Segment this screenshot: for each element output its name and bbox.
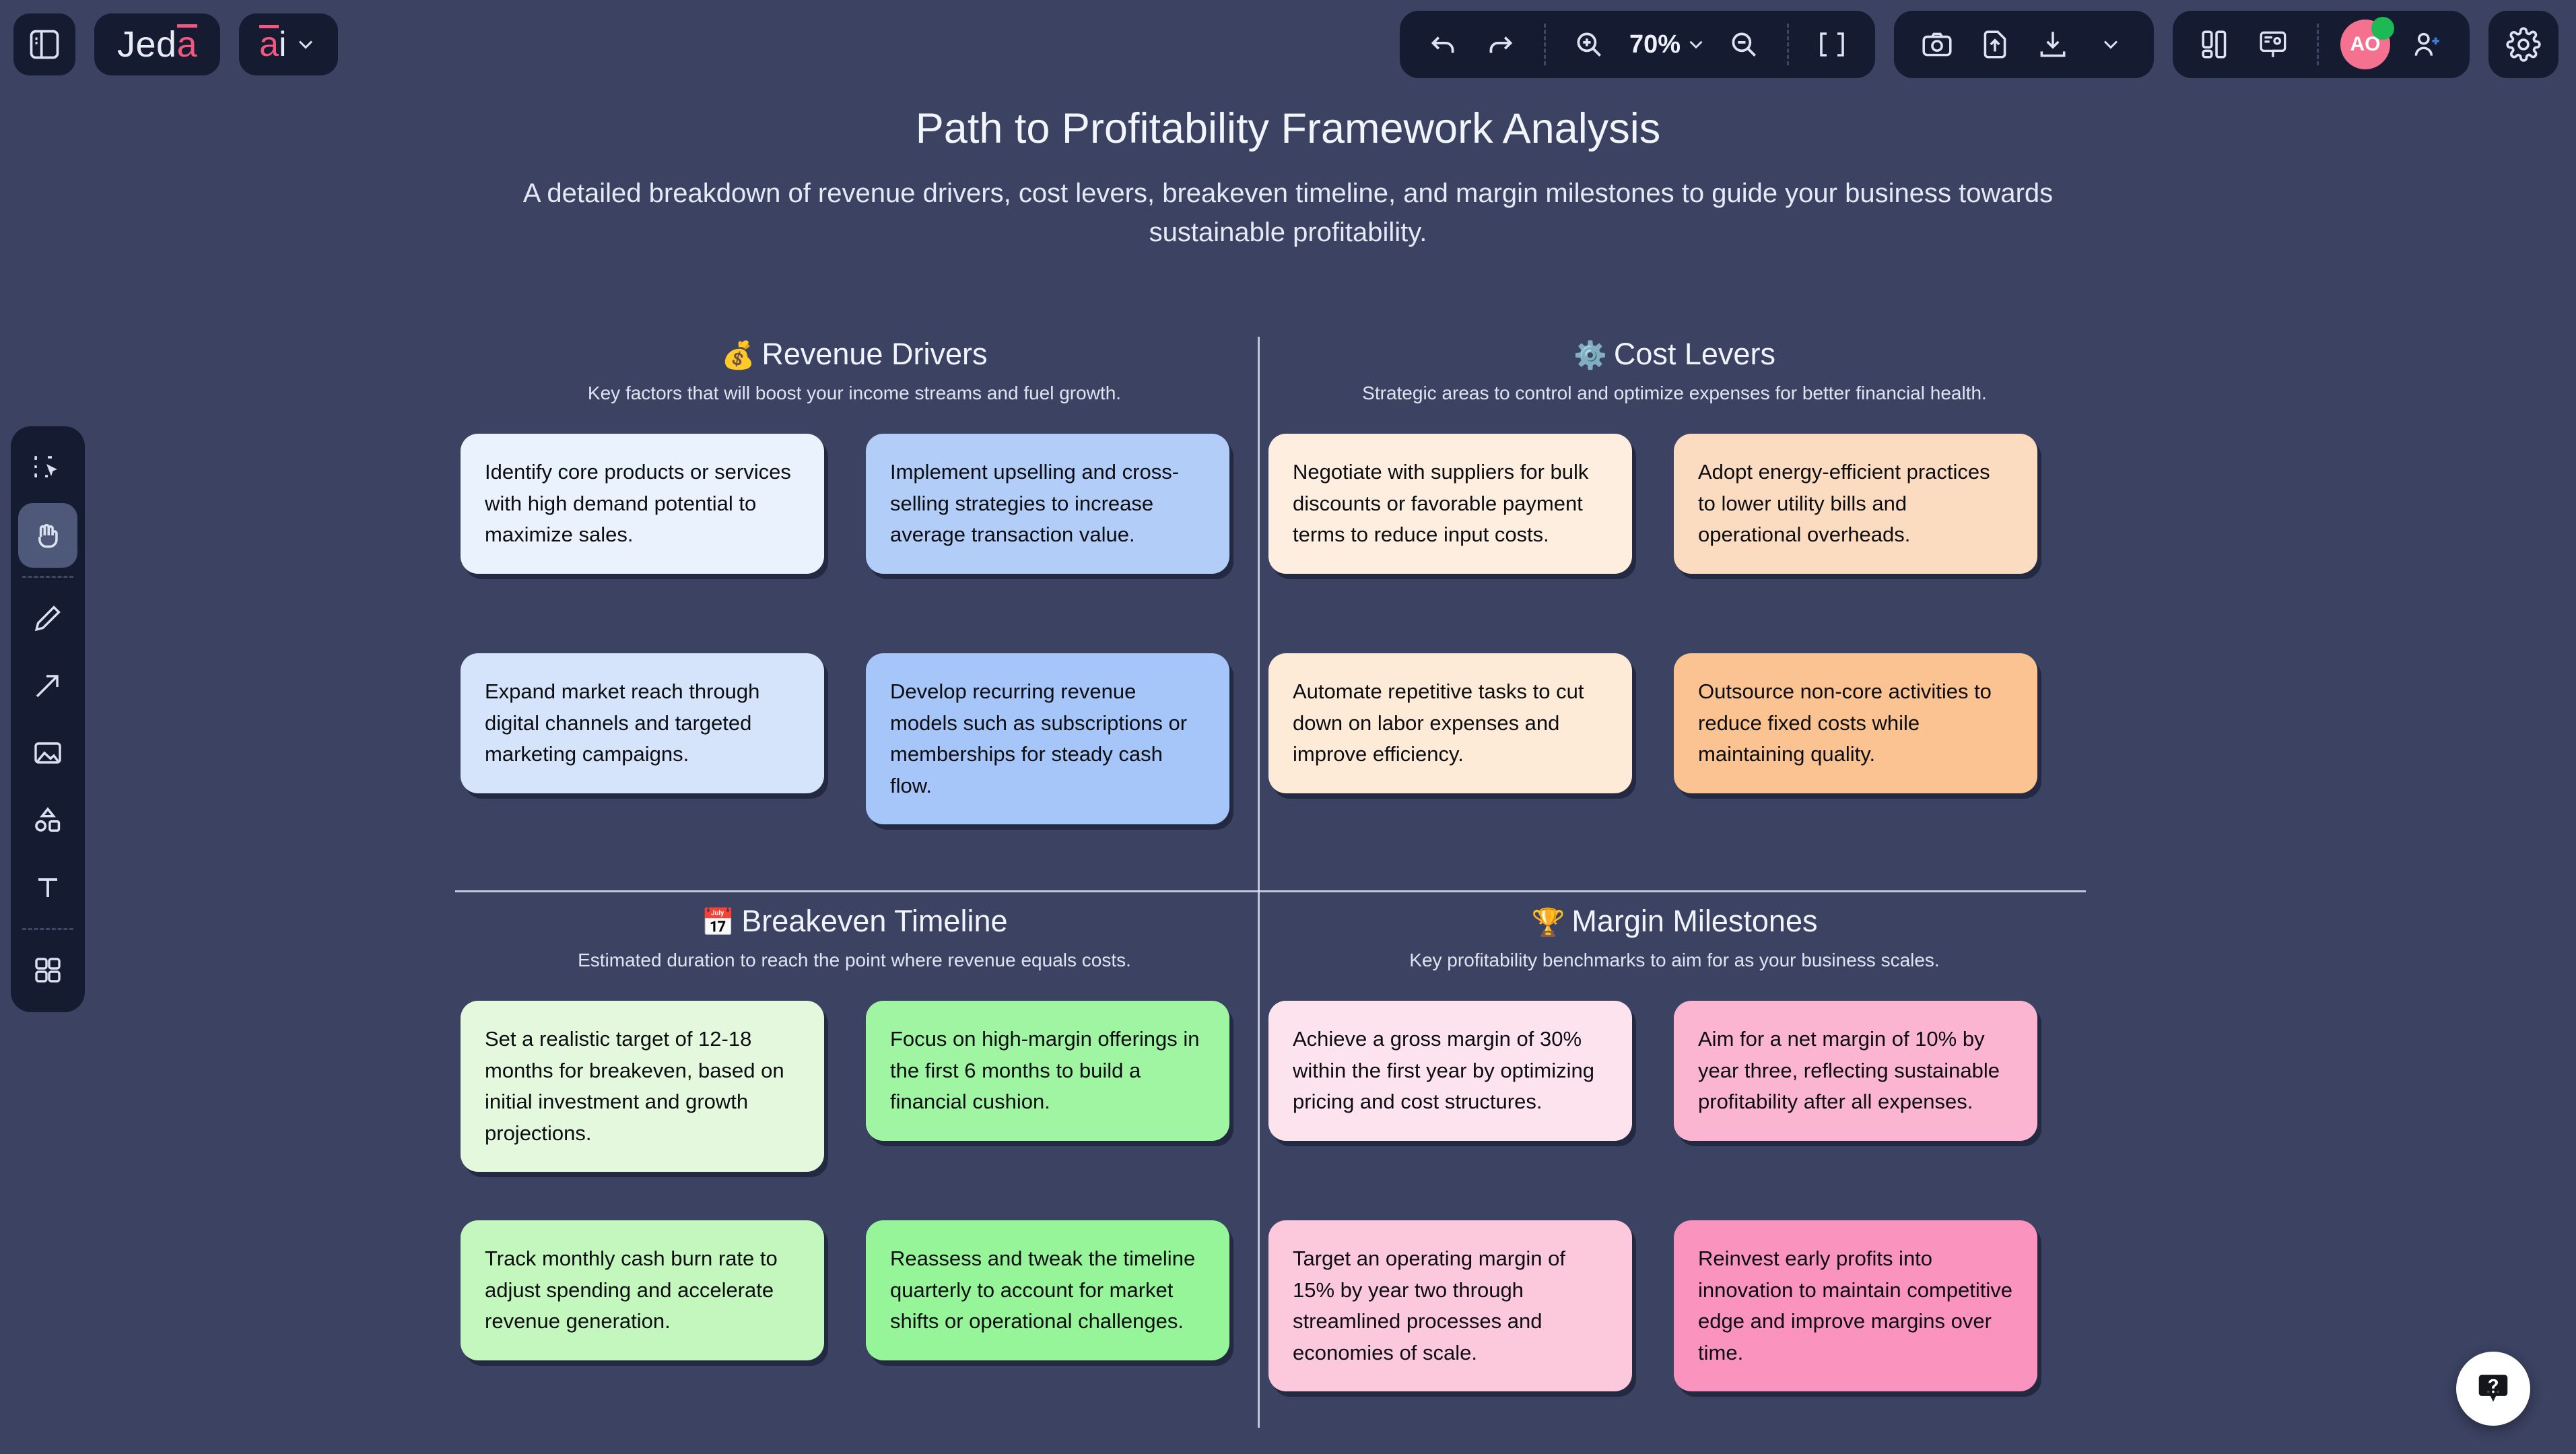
sticky-note-card[interactable]: Implement upselling and cross-selling st…: [866, 434, 1229, 574]
upload-button[interactable]: [1969, 19, 2021, 70]
arrow-icon: [32, 669, 64, 702]
quadrant-title-text: Cost Levers: [1614, 337, 1775, 371]
sticky-note-text: Reassess and tweak the timeline quarterl…: [890, 1247, 1195, 1333]
quadrant-emoji-icon: ⚙️: [1573, 341, 1607, 370]
sticky-note-card[interactable]: Negotiate with suppliers for bulk discou…: [1268, 434, 1632, 574]
sticky-note-card[interactable]: Reinvest early profits into innovation t…: [1674, 1220, 2037, 1391]
sticky-note-text: Set a realistic target of 12-18 months f…: [485, 1027, 784, 1145]
sticky-note-card[interactable]: Identify core products or services with …: [461, 434, 824, 574]
divider: [22, 928, 73, 930]
sticky-note-text: Identify core products or services with …: [485, 460, 791, 546]
tool-rail: [11, 426, 85, 1012]
quadrant-title: 🏆Margin Milestones: [1263, 904, 2086, 939]
shapes-tool[interactable]: [18, 788, 77, 853]
sticky-note-card[interactable]: Set a realistic target of 12-18 months f…: [461, 1001, 824, 1172]
quadrant-emoji-icon: 💰: [722, 341, 755, 370]
ai-menu-button[interactable]: ai: [239, 13, 337, 75]
text-tool[interactable]: [18, 855, 77, 920]
quadrant-emoji-icon: 📅: [701, 908, 735, 937]
presentation-button[interactable]: [2248, 19, 2299, 70]
settings-button[interactable]: [2488, 11, 2558, 78]
quadrant-subtitle: Key factors that will boost your income …: [455, 383, 1254, 404]
download-button[interactable]: [2027, 19, 2078, 70]
quadrant-vertical-divider: [1258, 337, 1260, 1428]
zoom-level-value: 70%: [1625, 30, 1685, 59]
quadrant-title-text: Breakeven Timeline: [741, 904, 1007, 938]
arrow-tool[interactable]: [18, 653, 77, 718]
sticky-note-card[interactable]: Target an operating margin of 15% by yea…: [1268, 1220, 1632, 1391]
camera-icon: [1920, 28, 1954, 61]
quadrant-margin-milestones: 🏆Margin MilestonesKey profitability benc…: [1263, 904, 2086, 971]
sticky-note-text: Expand market reach through digital chan…: [485, 680, 759, 766]
ai-i-text: i: [279, 25, 287, 64]
sticky-note-text: Outsource non-core activities to reduce …: [1698, 680, 1992, 766]
logo-accent-text: a: [177, 24, 198, 62]
quadrant-subtitle: Estimated duration to reach the point wh…: [455, 950, 1254, 971]
hand-icon: [31, 519, 65, 552]
redo-icon: [1484, 28, 1518, 61]
logo-label: Jeda: [117, 24, 197, 65]
quadrant-header: 📅Breakeven TimelineEstimated duration to…: [455, 904, 1254, 971]
quadrant-cost-levers: ⚙️Cost LeversStrategic areas to control …: [1263, 337, 2086, 404]
page-title: Path to Profitability Framework Analysis: [0, 104, 2576, 153]
help-question-icon: [2474, 1369, 2513, 1408]
sticky-note-text: Aim for a net margin of 10% by year thre…: [1698, 1027, 2000, 1113]
divider: [2317, 24, 2319, 65]
quadrant-emoji-icon: 🏆: [1532, 908, 1565, 937]
layout-split-icon: [2199, 28, 2233, 61]
canvas: Path to Profitability Framework Analysis…: [0, 0, 2576, 1454]
sticky-note-text: Automate repetitive tasks to cut down on…: [1293, 680, 1584, 766]
sticky-note-card[interactable]: Expand market reach through digital chan…: [461, 653, 824, 793]
add-user-icon: [2410, 28, 2443, 61]
quadrant-header: ⚙️Cost LeversStrategic areas to control …: [1263, 337, 2086, 404]
zoom-in-button[interactable]: [1563, 19, 1615, 70]
divider: [1544, 24, 1546, 65]
select-tool[interactable]: [18, 436, 77, 500]
sticky-note-card[interactable]: Focus on high-margin offerings in the fi…: [866, 1001, 1229, 1141]
avatar[interactable]: AO: [2340, 20, 2390, 69]
top-toolbar: Jeda ai 70%: [0, 0, 2576, 89]
zoom-out-icon: [1727, 28, 1761, 61]
presentation-icon: [2257, 28, 2291, 61]
quadrant-title: 💰Revenue Drivers: [455, 337, 1254, 372]
quadrant-horizontal-divider: [455, 890, 2086, 892]
text-icon: [32, 871, 64, 904]
ai-accent-text: a: [259, 25, 279, 61]
panel-toggle-icon: [27, 27, 62, 62]
quadrant-title-text: Margin Milestones: [1571, 904, 1817, 938]
quadrant-title-text: Revenue Drivers: [761, 337, 987, 371]
grid-apps-icon: [32, 954, 64, 987]
collaboration-group: AO: [2173, 11, 2470, 78]
sticky-note-card[interactable]: Track monthly cash burn rate to adjust s…: [461, 1220, 824, 1360]
pen-tool[interactable]: [18, 586, 77, 651]
image-tool[interactable]: [18, 721, 77, 785]
sticky-note-card[interactable]: Adopt energy-efficient practices to lowe…: [1674, 434, 2037, 574]
quadrant-title: 📅Breakeven Timeline: [455, 904, 1254, 939]
logo-main-text: Jed: [117, 24, 177, 65]
shapes-icon: [31, 803, 65, 837]
divider: [22, 576, 73, 578]
download-icon: [2036, 28, 2070, 61]
pen-icon: [32, 602, 64, 634]
sticky-note-card[interactable]: Achieve a gross margin of 30% within the…: [1268, 1001, 1632, 1141]
file-upload-icon: [1978, 28, 2012, 61]
undo-button[interactable]: [1417, 19, 1468, 70]
divider: [1787, 24, 1789, 65]
hand-tool[interactable]: [18, 503, 77, 568]
image-icon: [32, 737, 64, 769]
chevron-down-icon: [2099, 32, 2123, 57]
zoom-out-button[interactable]: [1718, 19, 1769, 70]
sticky-note-card[interactable]: Aim for a net margin of 10% by year thre…: [1674, 1001, 2037, 1141]
gear-icon: [2506, 27, 2541, 62]
quadrant-title: ⚙️Cost Levers: [1263, 337, 2086, 372]
chevron-down-icon: [294, 32, 318, 57]
quadrant-breakeven-timeline: 📅Breakeven TimelineEstimated duration to…: [455, 904, 1254, 971]
sticky-note-text: Target an operating margin of 15% by yea…: [1293, 1247, 1565, 1364]
marquee-select-icon: [32, 452, 64, 484]
sticky-note-text: Implement upselling and cross-selling st…: [890, 460, 1179, 546]
sticky-note-text: Adopt energy-efficient practices to lowe…: [1698, 460, 1990, 546]
toolbar-left-group: Jeda ai: [0, 13, 338, 75]
help-button[interactable]: [2456, 1352, 2530, 1426]
screenshot-button[interactable]: [1911, 19, 1963, 70]
quadrant-subtitle: Key profitability benchmarks to aim for …: [1263, 950, 2086, 971]
sticky-note-card[interactable]: Reassess and tweak the timeline quarterl…: [866, 1220, 1229, 1360]
quadrant-header: 💰Revenue DriversKey factors that will bo…: [455, 337, 1254, 404]
online-status-dot: [2371, 17, 2394, 40]
page-subtitle: A detailed breakdown of revenue drivers,…: [480, 174, 2096, 252]
download-options-dropdown[interactable]: [2085, 19, 2136, 70]
sidebar-toggle-button[interactable]: [13, 13, 75, 75]
add-user-button[interactable]: [2401, 19, 2452, 70]
edit-zoom-group: 70%: [1400, 11, 1875, 78]
sticky-note-text: Negotiate with suppliers for bulk discou…: [1293, 460, 1588, 546]
toolbar-right-group: 70%: [1400, 11, 2576, 78]
zoom-in-icon: [1572, 28, 1606, 61]
ai-label: ai: [259, 24, 286, 65]
layout-button[interactable]: [2190, 19, 2241, 70]
user-avatar-wrap[interactable]: AO: [2336, 19, 2394, 70]
sticky-note-text: Focus on high-margin offerings in the fi…: [890, 1027, 1200, 1113]
sticky-note-text: Develop recurring revenue models such as…: [890, 680, 1187, 797]
apps-tool[interactable]: [18, 938, 77, 1003]
sticky-note-card[interactable]: Develop recurring revenue models such as…: [866, 653, 1229, 824]
quadrant-subtitle: Strategic areas to control and optimize …: [1263, 383, 2086, 404]
sticky-note-text: Track monthly cash burn rate to adjust s…: [485, 1247, 778, 1333]
redo-button[interactable]: [1475, 19, 1526, 70]
fit-to-screen-button[interactable]: [1806, 19, 1858, 70]
fit-to-screen-icon: [1816, 28, 1848, 61]
sticky-note-text: Reinvest early profits into innovation t…: [1698, 1247, 2012, 1364]
app-logo[interactable]: Jeda: [94, 13, 220, 75]
quadrant-revenue-drivers: 💰Revenue DriversKey factors that will bo…: [455, 337, 1254, 404]
zoom-level-dropdown[interactable]: 70%: [1621, 19, 1711, 70]
chevron-down-icon: [1685, 33, 1707, 56]
export-group: [1894, 11, 2154, 78]
sticky-note-text: Achieve a gross margin of 30% within the…: [1293, 1027, 1594, 1113]
undo-icon: [1426, 28, 1460, 61]
sticky-note-card[interactable]: Outsource non-core activities to reduce …: [1674, 653, 2037, 793]
quadrant-header: 🏆Margin MilestonesKey profitability benc…: [1263, 904, 2086, 971]
sticky-note-card[interactable]: Automate repetitive tasks to cut down on…: [1268, 653, 1632, 793]
